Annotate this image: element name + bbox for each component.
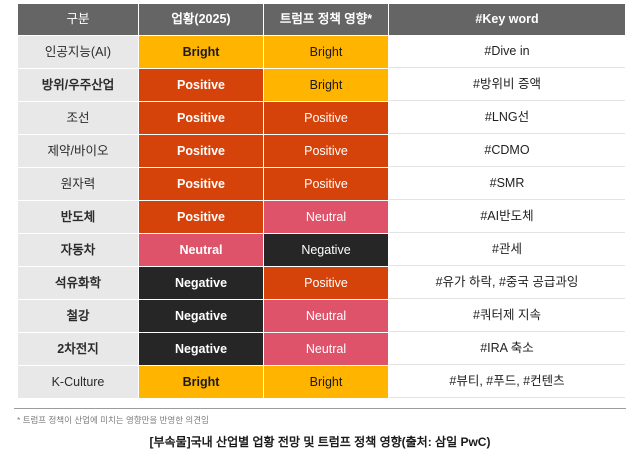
keyword-cell: #관세	[389, 234, 625, 266]
policy-impact-cell: Bright	[264, 69, 388, 101]
row-label: 2차전지	[18, 333, 138, 365]
keyword-cell: #CDMO	[389, 135, 625, 167]
policy-impact-cell: Negative	[264, 234, 388, 266]
row-label: K-Culture	[18, 366, 138, 398]
row-label: 조선	[18, 102, 138, 134]
table-row: 철강NegativeNeutral#쿼터제 지속	[18, 300, 625, 332]
table-row: 방위/우주산업PositiveBright#방위비 증액	[18, 69, 625, 101]
row-label: 제약/바이오	[18, 135, 138, 167]
outlook-status-cell: Bright	[139, 366, 263, 398]
outlook-status-cell: Positive	[139, 135, 263, 167]
keyword-cell: #SMR	[389, 168, 625, 200]
table-row: 제약/바이오PositivePositive#CDMO	[18, 135, 625, 167]
column-header-policy: 트럼프 정책 영향*	[264, 4, 388, 35]
keyword-cell: #IRA 축소	[389, 333, 625, 365]
table-row: 2차전지NegativeNeutral#IRA 축소	[18, 333, 625, 365]
row-label: 석유화학	[18, 267, 138, 299]
outlook-status-cell: Bright	[139, 36, 263, 68]
outlook-status-cell: Negative	[139, 267, 263, 299]
policy-impact-cell: Positive	[264, 267, 388, 299]
policy-impact-cell: Positive	[264, 102, 388, 134]
table-row: 반도체PositiveNeutral#AI반도체	[18, 201, 625, 233]
policy-impact-cell: Bright	[264, 36, 388, 68]
outlook-status-cell: Positive	[139, 201, 263, 233]
table-row: 자동차NeutralNegative#관세	[18, 234, 625, 266]
column-header-keyword: #Key word	[389, 4, 625, 35]
policy-impact-cell: Bright	[264, 366, 388, 398]
policy-impact-cell: Neutral	[264, 333, 388, 365]
keyword-cell: #LNG선	[389, 102, 625, 134]
outlook-status-cell: Positive	[139, 69, 263, 101]
table-row: 원자력PositivePositive#SMR	[18, 168, 625, 200]
outlook-status-cell: Neutral	[139, 234, 263, 266]
row-label: 인공지능(AI)	[18, 36, 138, 68]
column-header-category: 구분	[18, 4, 138, 35]
row-label: 원자력	[18, 168, 138, 200]
policy-impact-cell: Positive	[264, 135, 388, 167]
row-label: 철강	[18, 300, 138, 332]
outlook-status-cell: Negative	[139, 333, 263, 365]
keyword-cell: #AI반도체	[389, 201, 625, 233]
outlook-status-cell: Negative	[139, 300, 263, 332]
footer-divider	[14, 408, 626, 409]
keyword-cell: #뷰티, #푸드, #컨텐츠	[389, 366, 625, 398]
column-header-outlook: 업황(2025)	[139, 4, 263, 35]
row-label: 반도체	[18, 201, 138, 233]
table-row: 석유화학NegativePositive#유가 하락, #중국 공급과잉	[18, 267, 625, 299]
keyword-cell: #Dive in	[389, 36, 625, 68]
row-label: 자동차	[18, 234, 138, 266]
keyword-cell: #쿼터제 지속	[389, 300, 625, 332]
policy-impact-cell: Neutral	[264, 201, 388, 233]
industry-outlook-figure: 구분 업황(2025) 트럼프 정책 영향* #Key word 인공지능(AI…	[0, 0, 640, 455]
table-header-row: 구분 업황(2025) 트럼프 정책 영향* #Key word	[18, 4, 625, 35]
industry-outlook-table: 구분 업황(2025) 트럼프 정책 영향* #Key word 인공지능(AI…	[17, 3, 626, 399]
policy-impact-cell: Neutral	[264, 300, 388, 332]
table-row: 인공지능(AI)BrightBright#Dive in	[18, 36, 625, 68]
outlook-status-cell: Positive	[139, 168, 263, 200]
footnote-text: * 트럼프 정책이 산업에 미치는 영향만을 반영한 의견임	[17, 414, 209, 426]
policy-impact-cell: Positive	[264, 168, 388, 200]
outlook-status-cell: Positive	[139, 102, 263, 134]
table-row: K-CultureBrightBright#뷰티, #푸드, #컨텐츠	[18, 366, 625, 398]
figure-caption: [부속물]국내 산업별 업황 전망 및 트럼프 정책 영향(출처: 삼일 PwC…	[0, 433, 640, 450]
table-row: 조선PositivePositive#LNG선	[18, 102, 625, 134]
keyword-cell: #유가 하락, #중국 공급과잉	[389, 267, 625, 299]
keyword-cell: #방위비 증액	[389, 69, 625, 101]
row-label: 방위/우주산업	[18, 69, 138, 101]
table-header: 구분 업황(2025) 트럼프 정책 영향* #Key word	[18, 4, 625, 35]
table-body: 인공지능(AI)BrightBright#Dive in방위/우주산업Posit…	[18, 36, 625, 398]
